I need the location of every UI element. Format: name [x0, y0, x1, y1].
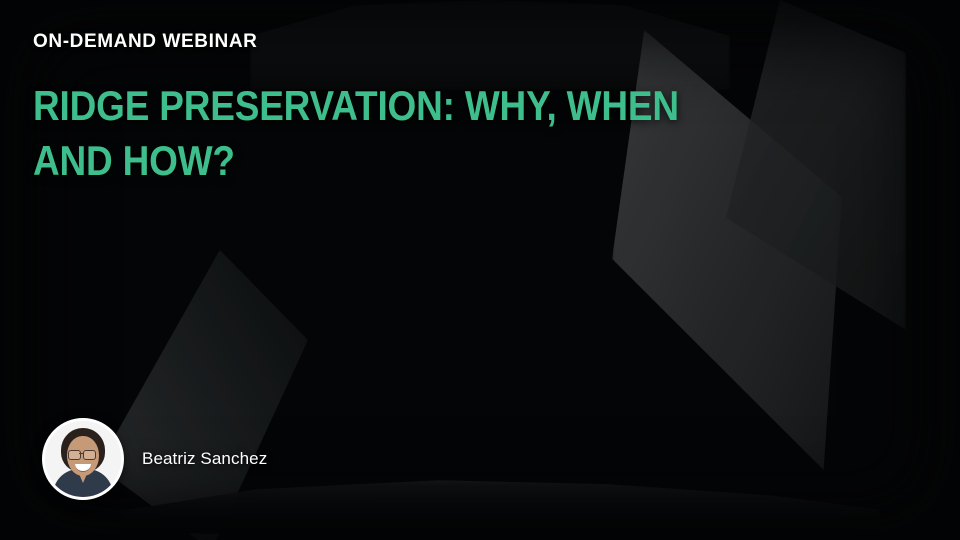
avatar-glasses-left — [68, 450, 81, 460]
presenter-block: Beatriz Sanchez — [42, 418, 267, 500]
avatar-glasses-right — [83, 450, 96, 460]
eyebrow-label: ON-DEMAND WEBINAR — [33, 32, 257, 51]
avatar-glasses-bridge — [79, 453, 83, 454]
avatar — [42, 418, 124, 500]
headline-line-1: RIDGE PRESERVATION: WHY, WHEN — [33, 78, 561, 133]
presenter-name: Beatriz Sanchez — [142, 449, 267, 469]
headline-line-2: AND HOW? — [33, 133, 561, 188]
webinar-promo-banner: ON-DEMAND WEBINAR RIDGE PRESERVATION: WH… — [0, 0, 960, 540]
page-title: RIDGE PRESERVATION: WHY, WHEN AND HOW? — [33, 78, 561, 189]
grass-highlight-speckle — [200, 290, 820, 470]
